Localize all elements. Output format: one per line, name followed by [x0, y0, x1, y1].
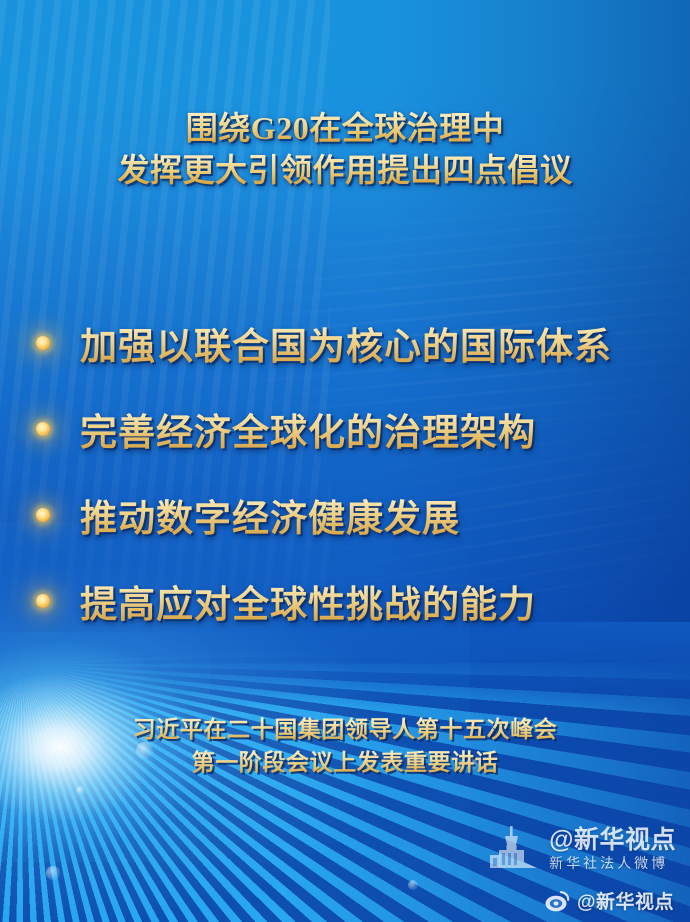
poster-caption: 习近平在二十国集团领导人第十五次峰会 第一阶段会议上发表重要讲话: [0, 714, 690, 779]
caption-line-2: 第一阶段会议上发表重要讲话: [0, 747, 690, 780]
caption-line-1: 习近平在二十国集团领导人第十五次峰会: [0, 714, 690, 747]
proposal-list: 加强以联合国为核心的国际体系 完善经济全球化的治理架构 推动数字经济健康发展 提…: [0, 300, 690, 644]
watermark: @新华视点 新华社法人微博: [485, 824, 676, 874]
watermark-subtitle: 新华社法人微博: [549, 856, 668, 872]
poster-canvas: 围绕G20在全球治理中 发挥更大引领作用提出四点倡议 加强以联合国为核心的国际体…: [0, 0, 690, 922]
weibo-attribution: @新华视点: [545, 887, 674, 914]
gold-dot-icon: [36, 508, 50, 522]
watermark-account: @新华视点: [549, 826, 676, 854]
list-item: 完善经济全球化的治理架构: [0, 386, 690, 472]
list-item: 加强以联合国为核心的国际体系: [0, 300, 690, 386]
weibo-eye-icon: [545, 890, 571, 912]
watermark-texts: @新华视点 新华社法人微博: [549, 826, 676, 872]
list-item-label: 提高应对全球性挑战的能力: [80, 574, 536, 628]
list-item: 推动数字经济健康发展: [0, 472, 690, 558]
gold-dot-icon: [36, 594, 50, 608]
title-line-1: 围绕G20在全球治理中: [0, 108, 690, 150]
weibo-account: @新华视点: [577, 887, 674, 914]
list-item-label: 完善经济全球化的治理架构: [80, 402, 536, 456]
gold-dot-icon: [36, 422, 50, 436]
gold-dot-icon: [36, 336, 50, 350]
list-item-label: 推动数字经济健康发展: [80, 488, 460, 542]
list-item-label: 加强以联合国为核心的国际体系: [80, 316, 612, 370]
title-line-2: 发挥更大引领作用提出四点倡议: [0, 150, 690, 192]
xinhua-tower-logo-icon: [485, 824, 541, 874]
poster-title: 围绕G20在全球治理中 发挥更大引领作用提出四点倡议: [0, 108, 690, 191]
list-item: 提高应对全球性挑战的能力: [0, 558, 690, 644]
